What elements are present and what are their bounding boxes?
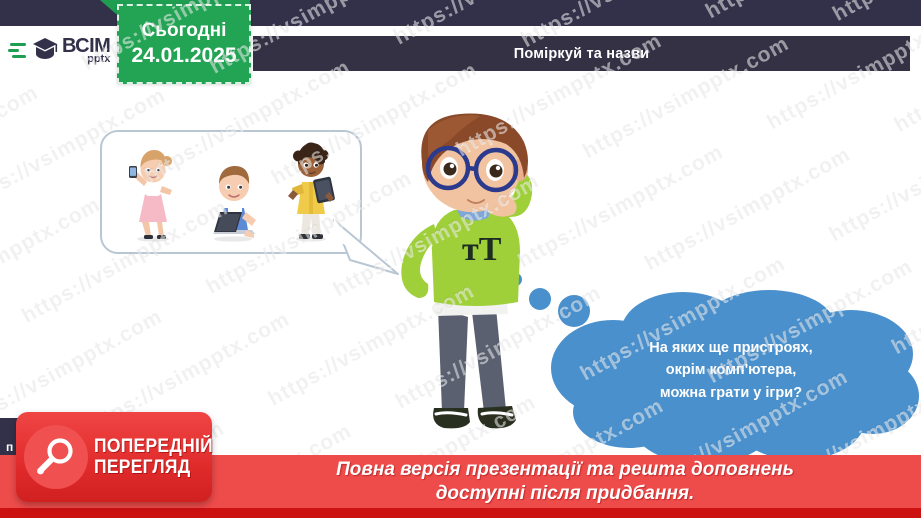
magnifier-icon: [35, 436, 77, 478]
preview-icon-circle: [24, 425, 88, 489]
preview-line-1: ПОПЕРЕДНІЙ: [94, 437, 213, 456]
speech-bubble: [100, 130, 362, 254]
preview-badge[interactable]: ПОПЕРЕДНІЙ ПЕРЕГЛЯД: [16, 412, 212, 502]
graduation-cap-icon: [30, 35, 58, 65]
slide-canvas: ВСІМ pptx Сьогодні 24.01.2025 Поміркуй т…: [0, 0, 921, 518]
banner-line-1: Повна версія презентації та решта доповн…: [336, 458, 794, 482]
banner-bottom-strip: [0, 508, 921, 518]
thinking-boy-character: тT: [372, 112, 568, 457]
today-date-badge: Сьогодні 24.01.2025: [117, 4, 251, 84]
thought-cloud: [543, 288, 921, 463]
preview-line-2: ПЕРЕГЛЯД: [94, 458, 213, 477]
shirt-print: тT: [462, 231, 502, 268]
brand-logo[interactable]: ВСІМ pptx: [8, 28, 112, 72]
banner-line-2: доступні після придбання.: [436, 482, 695, 506]
page-title: Поміркуй та назви: [514, 46, 650, 62]
date-badge-label: Сьогодні: [142, 20, 227, 42]
boy-with-tablet: [285, 142, 337, 242]
speed-lines-icon: [8, 43, 26, 58]
preview-badge-labels: ПОПЕРЕДНІЙ ПЕРЕГЛЯД: [94, 437, 223, 477]
girl-with-smartphone: [125, 146, 181, 242]
boy-with-laptop: [202, 164, 264, 242]
date-badge-value: 24.01.2025: [131, 44, 236, 68]
purchase-banner-text: Повна версія презентації та решта доповн…: [230, 457, 900, 507]
slide-title-bar: Поміркуй та назви: [253, 36, 910, 71]
